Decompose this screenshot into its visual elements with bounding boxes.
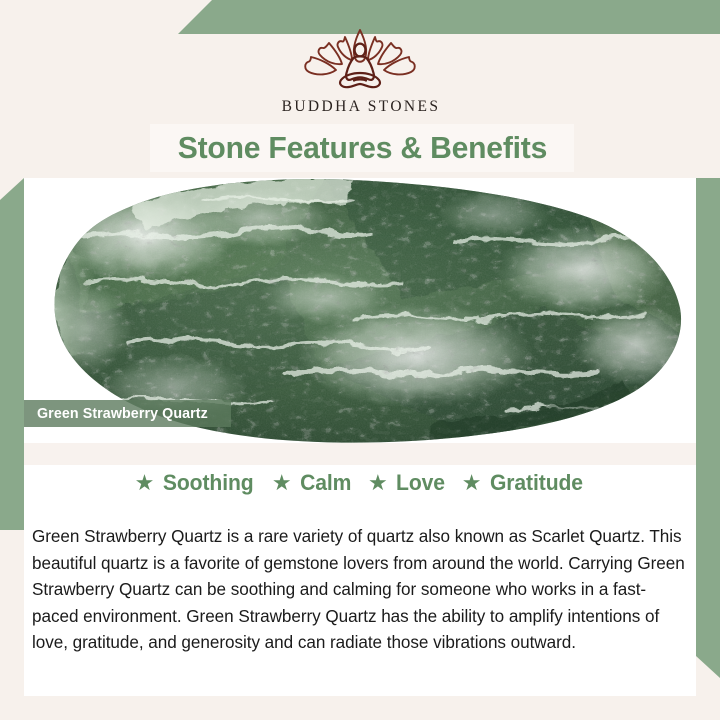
star-icon: ★ — [272, 472, 292, 494]
attribute-label: Love — [396, 470, 445, 496]
page-title: Stone Features & Benefits — [177, 130, 546, 166]
right-green-strip-decoration — [696, 178, 720, 678]
star-icon: ★ — [368, 472, 388, 494]
stone-description: Green Strawberry Quartz is a rare variet… — [32, 523, 686, 656]
stone-details-panel: ★ Soothing ★ Calm ★ Love ★ Gratitude Gre… — [24, 443, 696, 696]
card-header: BUDDHA STONES Stone Features & Benefits — [0, 0, 720, 178]
lotus-meditation-icon — [285, 24, 435, 94]
left-green-strip-decoration — [0, 178, 24, 530]
stone-name-caption: Green Strawberry Quartz — [24, 400, 231, 427]
star-icon: ★ — [135, 472, 155, 494]
attribute-item-gratitude: ★ Gratitude — [462, 470, 586, 496]
attribute-list: ★ Soothing ★ Calm ★ Love ★ Gratitude — [24, 470, 696, 496]
stone-photo: Green Strawberry Quartz — [24, 178, 696, 443]
attribute-item-calm: ★ Calm — [272, 470, 352, 496]
page-title-panel: Stone Features & Benefits — [150, 124, 574, 172]
stone-name-caption-label: Green Strawberry Quartz — [37, 405, 208, 422]
attribute-label: Soothing — [163, 470, 254, 496]
brand-logo: BUDDHA STONES — [0, 24, 720, 116]
attribute-label: Calm — [300, 470, 351, 496]
stone-info-card: BUDDHA STONES Stone Features & Benefits — [0, 0, 720, 720]
star-icon: ★ — [462, 472, 482, 494]
brand-wordmark: BUDDHA STONES — [0, 98, 720, 116]
attribute-label: Gratitude — [490, 470, 583, 496]
attribute-item-love: ★ Love — [368, 470, 446, 496]
footer-background-strip — [0, 696, 720, 720]
attribute-item-soothing: ★ Soothing — [135, 470, 256, 496]
panel-top-tint — [24, 443, 696, 465]
